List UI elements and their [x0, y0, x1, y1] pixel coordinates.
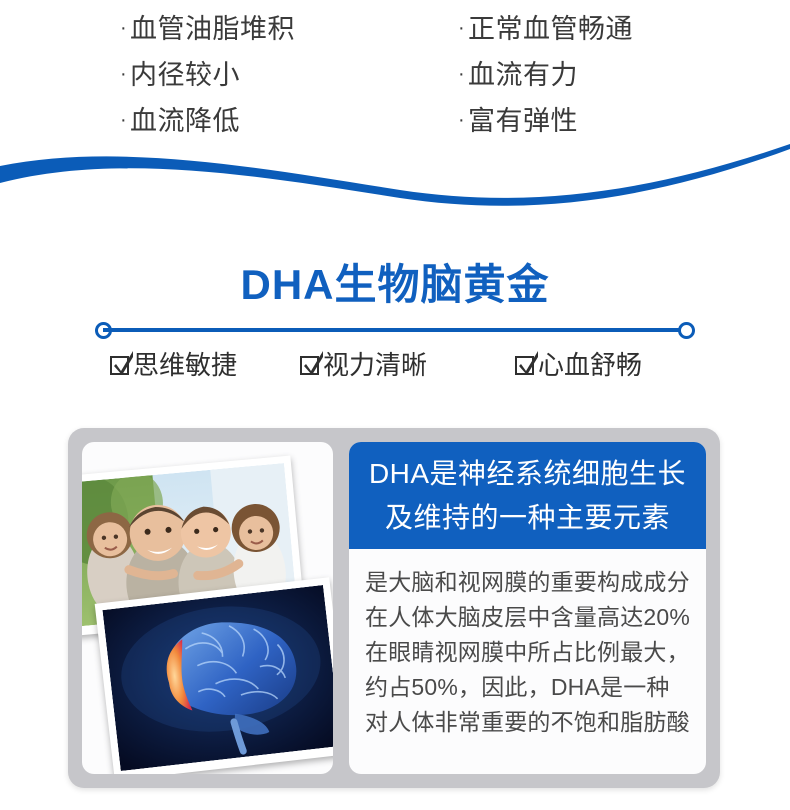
- brain-photo-frame: [95, 577, 333, 774]
- check-icon: [515, 356, 534, 375]
- bullet-label: 血管油脂堆积: [130, 6, 295, 52]
- check-icon: [300, 356, 319, 375]
- content-card: DHA是神经系统细胞生长 及维持的一种主要元素 是大脑和视网膜的重要构成成分 在…: [68, 428, 720, 788]
- feature-label: 视力清晰: [323, 350, 427, 380]
- bullet-dot-icon: ·: [458, 110, 468, 130]
- body-line: 对人体非常重要的不饱和脂肪酸: [365, 705, 692, 740]
- page-title: DHA生物脑黄金: [0, 258, 790, 312]
- body-line: 约占50%，因此，DHA是一种: [365, 670, 692, 705]
- banner-line-2: 及维持的一种主要元素: [385, 496, 670, 540]
- brain-photo-illustration: [102, 585, 333, 771]
- info-banner: DHA是神经系统细胞生长 及维持的一种主要元素: [349, 442, 706, 549]
- rule-end-dot-right-icon: [678, 322, 695, 339]
- feature-item-thinking[interactable]: 思维敏捷: [110, 350, 237, 380]
- feature-label: 心血舒畅: [538, 350, 642, 380]
- check-mark-icon: [113, 350, 135, 376]
- bullet-label: 血流有力: [468, 52, 578, 98]
- bullet-label: 内径较小: [130, 52, 240, 98]
- bullet-dot-icon: ·: [120, 110, 130, 130]
- brain-photo: [102, 585, 333, 771]
- bullet-dot-icon: ·: [120, 18, 130, 38]
- feature-label: 思维敏捷: [133, 350, 237, 380]
- bullet-dot-icon: ·: [458, 64, 468, 84]
- bullet-column-left: · 血管油脂堆积 · 内径较小 · 血流降低: [120, 6, 295, 144]
- bullet-dot-icon: ·: [120, 64, 130, 84]
- bullet-column-right: · 正常血管畅通 · 血流有力 · 富有弹性: [458, 6, 633, 144]
- bullet-label: 正常血管畅通: [468, 6, 633, 52]
- bullet-item: · 内径较小: [120, 52, 295, 98]
- body-line: 在人体大脑皮层中含量高达20%: [365, 600, 692, 635]
- title-underline-rule: [95, 322, 695, 338]
- wave-divider-graphic: [0, 138, 790, 208]
- comparison-bullets-section: · 血管油脂堆积 · 内径较小 · 血流降低 · 正常血管畅通 · 血流有力 ·…: [0, 0, 790, 150]
- body-line: 是大脑和视网膜的重要构成成分: [365, 565, 692, 600]
- check-mark-icon: [518, 350, 540, 376]
- bullet-item: · 血流有力: [458, 52, 633, 98]
- info-body-text: 是大脑和视网膜的重要构成成分 在人体大脑皮层中含量高达20% 在眼睛视网膜中所占…: [349, 549, 706, 740]
- bullet-item: · 正常血管畅通: [458, 6, 633, 52]
- bullet-dot-icon: ·: [458, 18, 468, 38]
- feature-item-cardiovascular[interactable]: 心血舒畅: [515, 350, 642, 380]
- photo-panel: [82, 442, 333, 774]
- rule-line: [103, 328, 687, 332]
- check-icon: [110, 356, 129, 375]
- bullet-item: · 血管油脂堆积: [120, 6, 295, 52]
- check-mark-icon: [303, 350, 325, 376]
- feature-check-list: 思维敏捷 视力清晰 心血舒畅: [110, 350, 690, 390]
- feature-item-vision[interactable]: 视力清晰: [300, 350, 427, 380]
- body-line: 在眼睛视网膜中所占比例最大，: [365, 635, 692, 670]
- info-panel: DHA是神经系统细胞生长 及维持的一种主要元素 是大脑和视网膜的重要构成成分 在…: [349, 442, 706, 774]
- banner-line-1: DHA是神经系统细胞生长: [369, 452, 686, 496]
